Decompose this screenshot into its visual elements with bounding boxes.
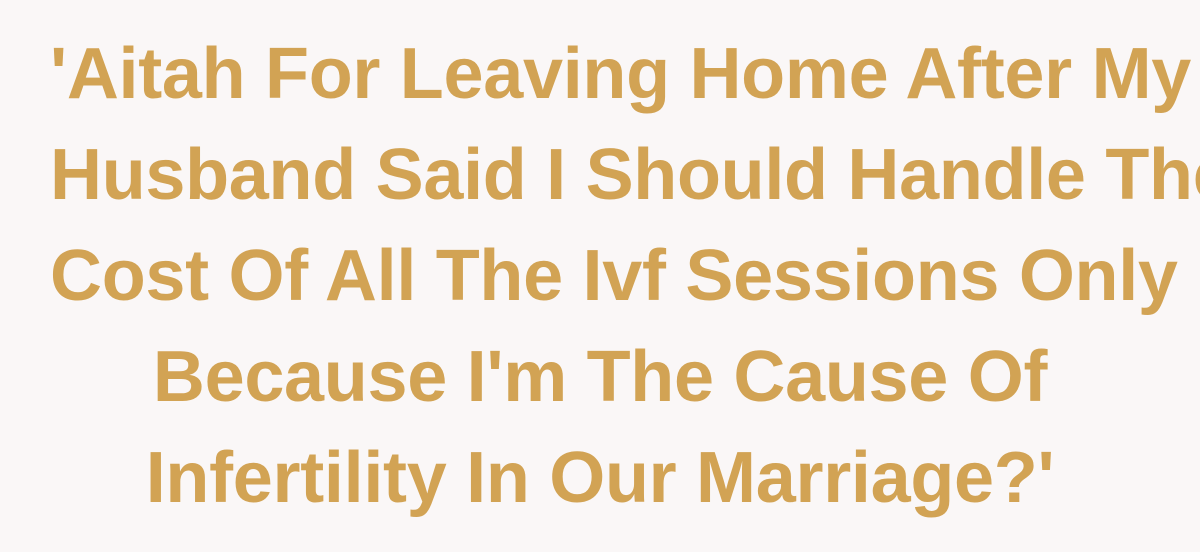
headline-line-5: Infertility In Our Marriage?'	[50, 428, 1150, 529]
headline-line-3: Cost Of All The Ivf Sessions Only	[50, 226, 1150, 327]
headline-canvas: 'Aitah For Leaving Home After My Husband…	[0, 0, 1200, 552]
headline-line-1: 'Aitah For Leaving Home After My	[50, 24, 1150, 125]
headline-line-2: Husband Said I Should Handle The	[50, 125, 1150, 226]
headline-line-4: Because I'm The Cause Of	[50, 327, 1150, 428]
page-title: 'Aitah For Leaving Home After My Husband…	[50, 24, 1150, 529]
